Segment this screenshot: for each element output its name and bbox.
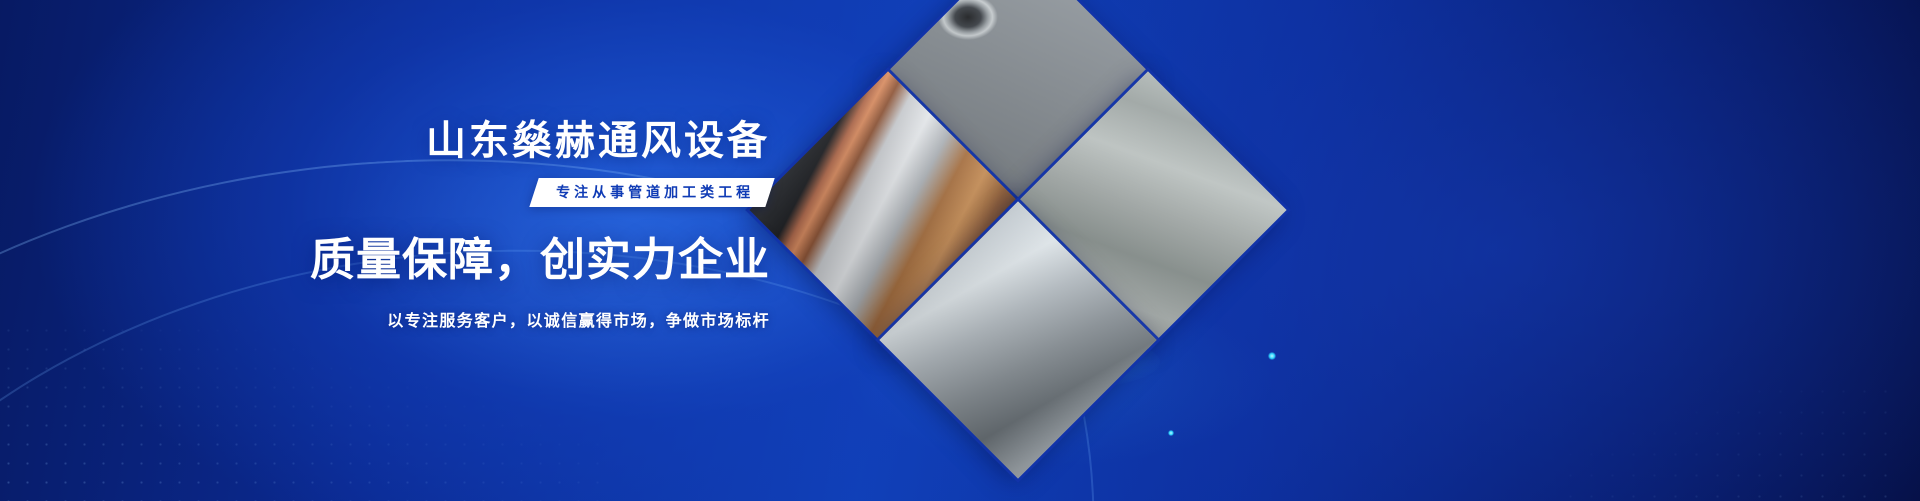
company-title: 山东燊赫通风设备 [300,118,770,164]
hero-text-block: 山东燊赫通风设备 专注从事管道加工类工程 质量保障，创实力企业 以专注服务客户，… [300,118,770,331]
dot-grid-pattern-left [0,321,600,501]
badge-ribbon: 专注从事管道加工类工程 [529,178,774,207]
diamond-photo-collage [800,40,1240,410]
hero-headline: 质量保障，创实力企业 [300,233,770,287]
glow-dot-4 [1168,430,1174,436]
glow-dot-2 [1268,352,1276,360]
hero-subtagline: 以专注服务客户，以诚信赢得市场，争做市场标杆 [300,307,770,331]
badge-label: 专注从事管道加工类工程 [556,183,754,201]
tagline-badge: 专注从事管道加工类工程 [300,178,770,207]
hero-banner: 山东燊赫通风设备 专注从事管道加工类工程 质量保障，创实力企业 以专注服务客户，… [0,0,1920,501]
dot-grid-pattern-right [1560,381,1890,501]
